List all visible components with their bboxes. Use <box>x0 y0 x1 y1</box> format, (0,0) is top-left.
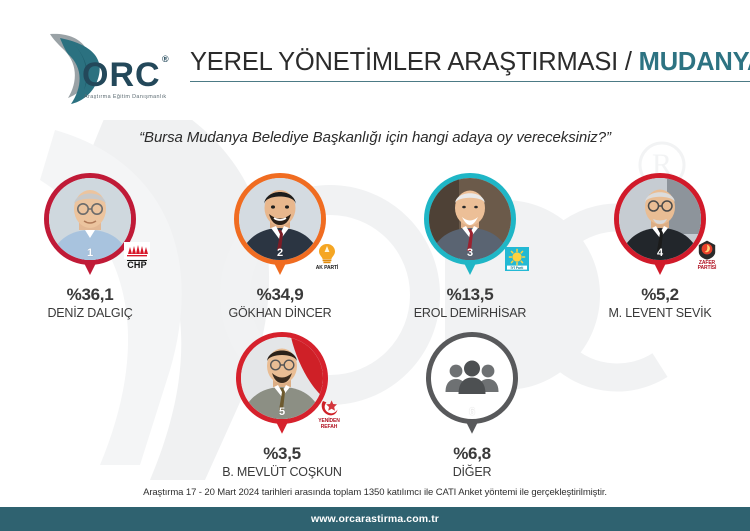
yeniden-refah-logo: YENİDEN REFAH <box>312 396 346 430</box>
candidate-card[interactable]: 5 YENİDEN REFAH %3,5 B. MEVLÜT COŞKUN <box>206 332 358 480</box>
candidate-card-other[interactable]: 6 %6,8 DİĞER <box>396 332 548 480</box>
footer-bar: www.orcarastirma.com.tr <box>0 507 750 531</box>
candidate-name: DENİZ DALGIÇ <box>47 307 132 321</box>
svg-text:Araştırma Eğitim Danışmanlık: Araştırma Eğitim Danışmanlık <box>84 94 167 100</box>
title-main-text: YEREL YÖNETİMLER ARAŞTIRMASI / <box>190 48 639 76</box>
methodology-note: Araştırma 17 - 20 Mart 2024 tarihleri ar… <box>0 487 750 498</box>
rank-badge: 3 <box>458 248 482 259</box>
svg-text:İYİ Parti: İYİ Parti <box>511 266 524 270</box>
rank-badge: 1 <box>78 248 102 259</box>
svg-text:ORC: ORC <box>82 56 161 94</box>
candidate-percentage: %6,8 <box>453 445 491 462</box>
candidate-card[interactable]: 4 ZAFER PARTİSİ %5,2 M. LEVENT SEVİK <box>584 173 736 321</box>
zafer-label: ZAFER PARTİSİ <box>690 261 724 272</box>
candidate-name: B. MEVLÜT COŞKUN <box>222 466 342 480</box>
candidate-pin: 1 CHP <box>44 173 136 277</box>
iyiparti-logo: İYİ Parti <box>500 237 534 271</box>
svg-text:®: ® <box>162 54 169 64</box>
akparti-logo: AK PARTİ <box>310 237 344 271</box>
rank-badge: 5 <box>270 407 294 418</box>
candidate-name: M. LEVENT SEVİK <box>608 307 711 321</box>
title-underline <box>190 81 750 83</box>
rank-badge: 2 <box>268 248 292 259</box>
candidate-percentage: %5,2 <box>641 286 679 303</box>
page-title: YEREL YÖNETİMLER ARAŞTIRMASI / MUDANYA <box>190 48 750 76</box>
candidate-name: EROL DEMİRHİSAR <box>414 307 527 321</box>
candidate-row-1: 1 CHP %36,1 DENİZ DALGIÇ <box>0 173 750 321</box>
candidate-row-2: 5 YENİDEN REFAH %3,5 B. MEVLÜT COŞKUN <box>0 332 750 480</box>
candidate-name: GÖKHAN DİNCER <box>229 307 332 321</box>
candidate-name: DİĞER <box>453 466 492 480</box>
chp-label: CHP <box>127 260 147 271</box>
survey-question: “Bursa Mudanya Belediye Başkanlığı için … <box>0 129 750 146</box>
candidate-pin: 5 YENİDEN REFAH <box>236 332 328 436</box>
website-url[interactable]: www.orcarastirma.com.tr <box>311 513 439 525</box>
akparti-label: AK PARTİ <box>316 266 338 271</box>
candidate-card[interactable]: 2 AK PARTİ %34,9 GÖKHAN DİNCER <box>204 173 356 321</box>
rank-badge: 4 <box>648 248 672 259</box>
chp-logo: CHP <box>120 237 154 271</box>
yrp-label: YENİDEN REFAH <box>312 419 346 430</box>
candidate-pin: 3 İYİ Parti <box>424 173 516 277</box>
candidate-pin: 6 <box>426 332 518 436</box>
candidate-pin: 4 ZAFER PARTİSİ <box>614 173 706 277</box>
zafer-logo: ZAFER PARTİSİ <box>690 237 724 271</box>
candidate-pin: 2 AK PARTİ <box>234 173 326 277</box>
rank-badge: 6 <box>460 407 484 418</box>
candidate-card[interactable]: 3 İYİ Parti %13,5 E <box>394 173 546 321</box>
candidate-percentage: %34,9 <box>257 286 304 303</box>
candidate-percentage: %36,1 <box>67 286 114 303</box>
candidate-percentage: %3,5 <box>263 445 301 462</box>
poll-infographic: R ORC ® Araştırma Eğitim Danışmanlık YER… <box>0 0 750 531</box>
orc-logo[interactable]: ORC ® Araştırma Eğitim Danışmanlık <box>38 28 178 106</box>
candidate-percentage: %13,5 <box>447 286 494 303</box>
header: ORC ® Araştırma Eğitim Danışmanlık YEREL… <box>0 0 750 108</box>
candidate-card[interactable]: 1 CHP %36,1 DENİZ DALGIÇ <box>14 173 166 321</box>
title-city-text: MUDANYA <box>639 48 750 76</box>
title-block: YEREL YÖNETİMLER ARAŞTIRMASI / MUDANYA <box>190 48 750 87</box>
